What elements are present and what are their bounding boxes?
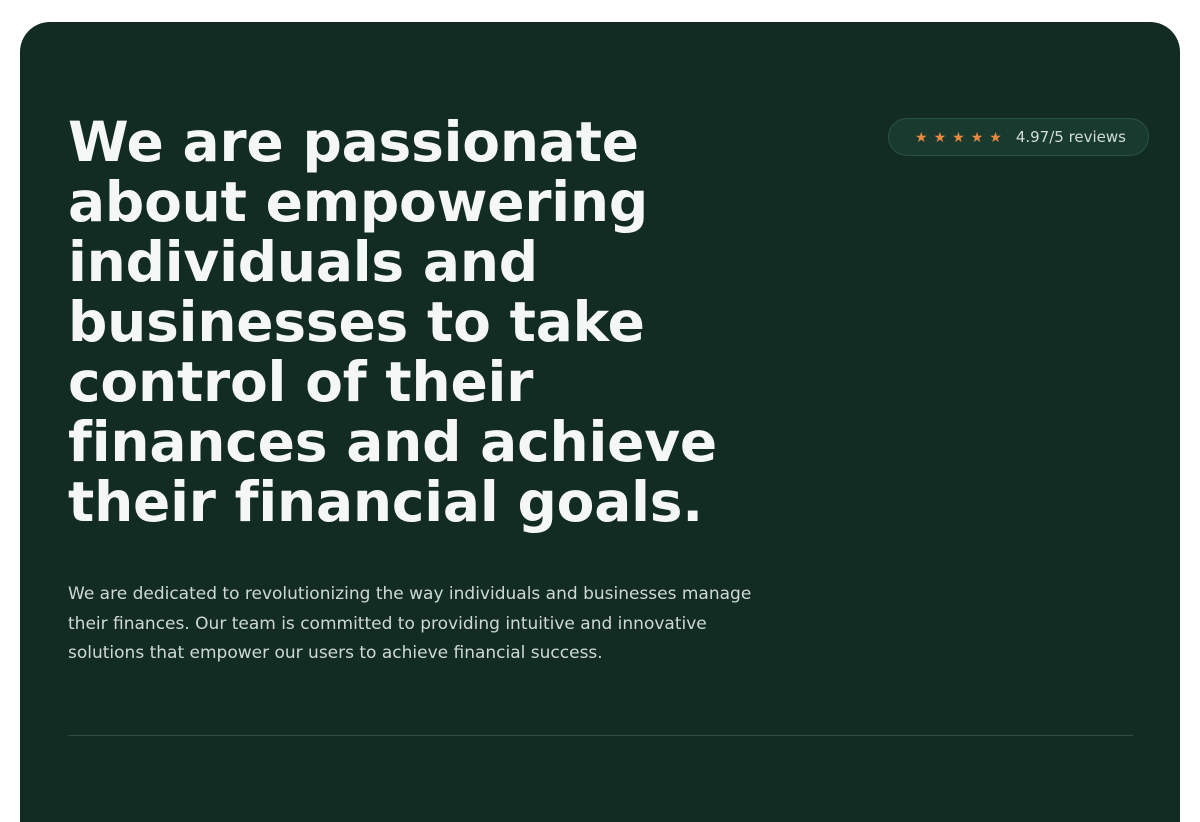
star-icon: ★	[915, 130, 928, 144]
hero-card-inner: We are passionate about empowering indiv…	[20, 22, 1180, 822]
rating-badge[interactable]: ★ ★ ★ ★ ★ 4.97/5 reviews	[888, 118, 1149, 156]
star-rating: ★ ★ ★ ★ ★	[915, 130, 1002, 144]
hero-description: We are dedicated to revolutionizing the …	[68, 580, 758, 669]
rating-label: 4.97/5 reviews	[1016, 128, 1126, 146]
star-icon: ★	[971, 130, 984, 144]
star-icon: ★	[989, 130, 1002, 144]
star-icon: ★	[952, 130, 965, 144]
page-title: We are passionate about empowering indiv…	[68, 112, 768, 532]
page-root: We are passionate about empowering indiv…	[0, 0, 1200, 800]
hero-card: We are passionate about empowering indiv…	[20, 22, 1180, 822]
section-divider	[68, 735, 1133, 736]
star-icon: ★	[934, 130, 947, 144]
